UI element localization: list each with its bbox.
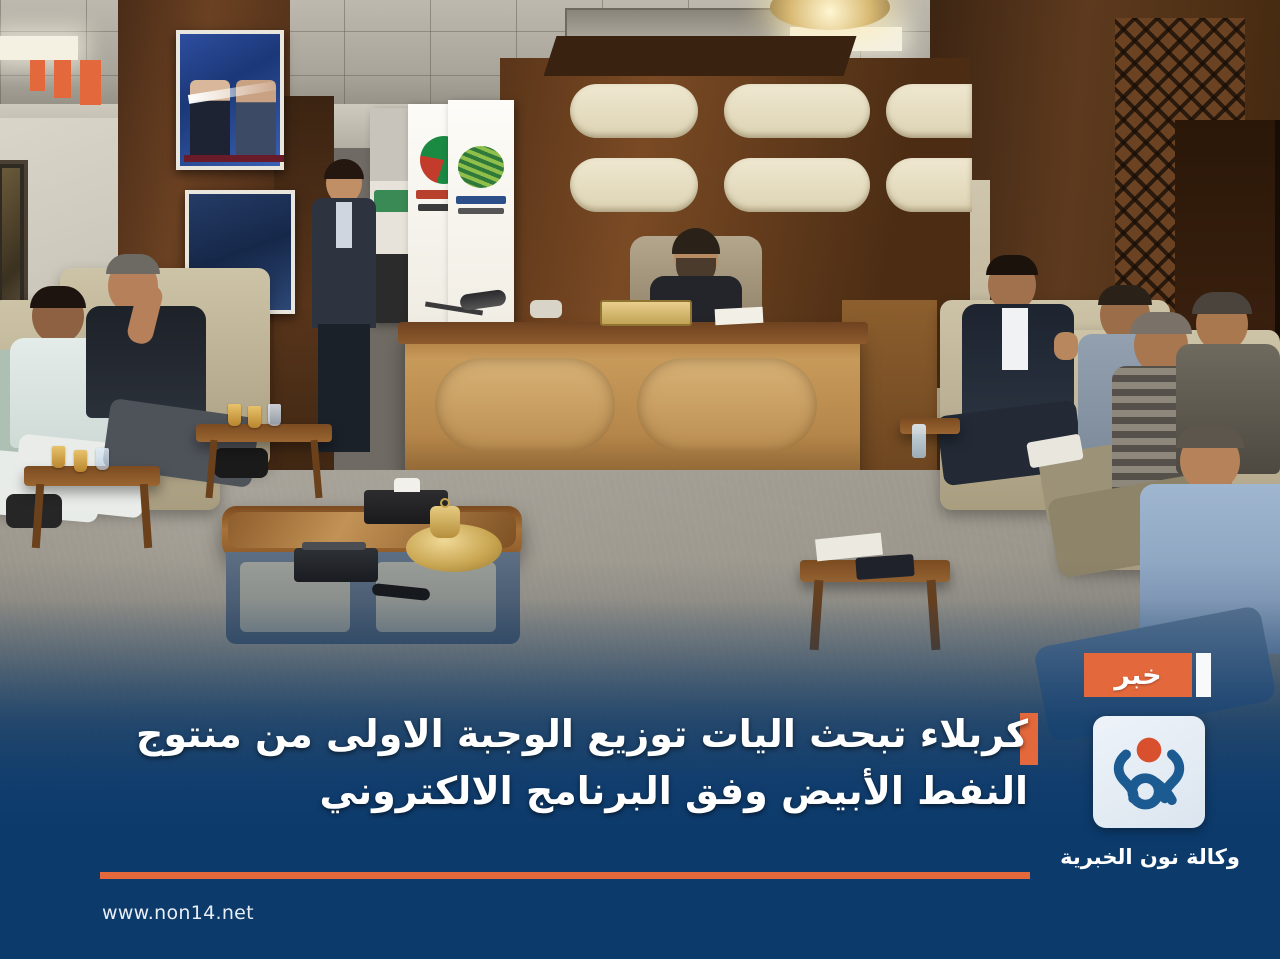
ceiling-light-icon xyxy=(0,36,78,60)
wall-plaque xyxy=(724,84,870,138)
agency-name: وكالة نون الخبرية xyxy=(1040,845,1260,869)
water-glass xyxy=(268,404,281,426)
agency-logo xyxy=(1093,716,1205,828)
standing-person xyxy=(312,162,376,452)
tea-glass xyxy=(52,446,65,468)
tea-glass xyxy=(228,404,241,426)
news-badge: خبر xyxy=(1084,653,1192,697)
news-badge-tab xyxy=(1196,653,1211,697)
water-glass xyxy=(96,448,109,470)
side-table xyxy=(196,424,332,442)
water-bottle xyxy=(912,424,926,458)
news-badge-label: خبر xyxy=(1114,662,1161,689)
three-bars-mark-icon xyxy=(30,60,101,105)
chairman-desk xyxy=(405,330,860,480)
news-card: كربلاء تبحث اليات توزيع الوجبة الاولى من… xyxy=(0,0,1280,959)
wall-plaque xyxy=(886,84,972,138)
wall-plaque xyxy=(724,158,870,212)
desk-papers xyxy=(715,307,764,325)
orange-rule-divider xyxy=(100,872,1030,879)
side-table xyxy=(24,466,160,486)
tv-screen-icon xyxy=(176,30,284,170)
wall-plaque xyxy=(886,158,972,212)
desk-nameplate xyxy=(600,300,692,326)
side-table xyxy=(900,418,960,434)
desk-object xyxy=(530,300,562,318)
headline: كربلاء تبحث اليات توزيع الوجبة الاولى من… xyxy=(84,706,1028,820)
website-url[interactable]: www.non14.net xyxy=(102,902,254,924)
opdc-flag-icon xyxy=(448,100,514,355)
tea-pot xyxy=(430,506,460,538)
tea-glass xyxy=(248,406,261,428)
noon-letter-logo-icon xyxy=(1105,728,1193,816)
tea-glass xyxy=(74,450,87,472)
wall-plaque xyxy=(570,84,698,138)
wall-plaque xyxy=(570,158,698,212)
